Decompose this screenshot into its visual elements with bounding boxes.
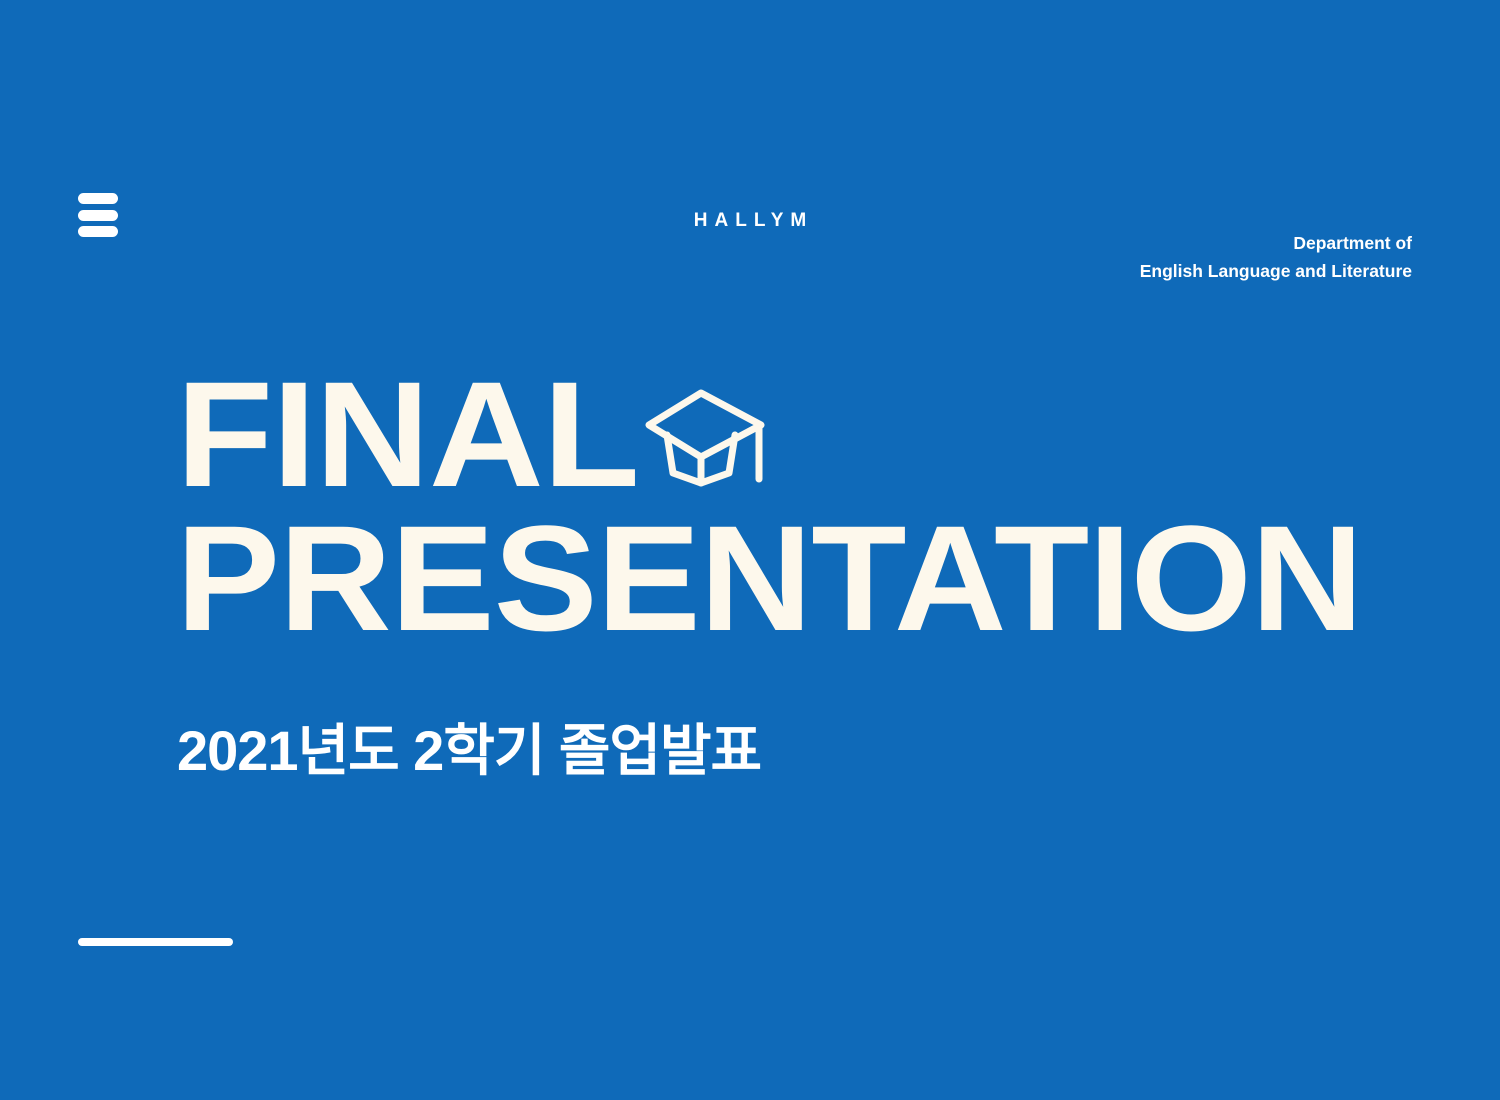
presentation-slide: HALLYM Department of English Language an… [0,0,1500,1100]
department-line-1: Department of [1140,229,1412,257]
page-subtitle: 2021년도 2학기 졸업발표 [177,706,761,787]
bottom-divider [78,938,233,946]
department-line-2: English Language and Literature [1140,257,1412,285]
department-label: Department of English Language and Liter… [1140,229,1412,286]
title-line-2-row: PRESENTATION [176,512,1376,644]
hamburger-bar-top [78,193,118,204]
title-line-1-row: FINAL [176,368,1376,500]
graduation-cap-icon [643,387,773,487]
hero-title-block: FINAL PRESENTATION [176,368,1376,644]
page-title-line-1: FINAL [176,362,639,506]
page-title-line-2: PRESENTATION [176,506,1362,650]
